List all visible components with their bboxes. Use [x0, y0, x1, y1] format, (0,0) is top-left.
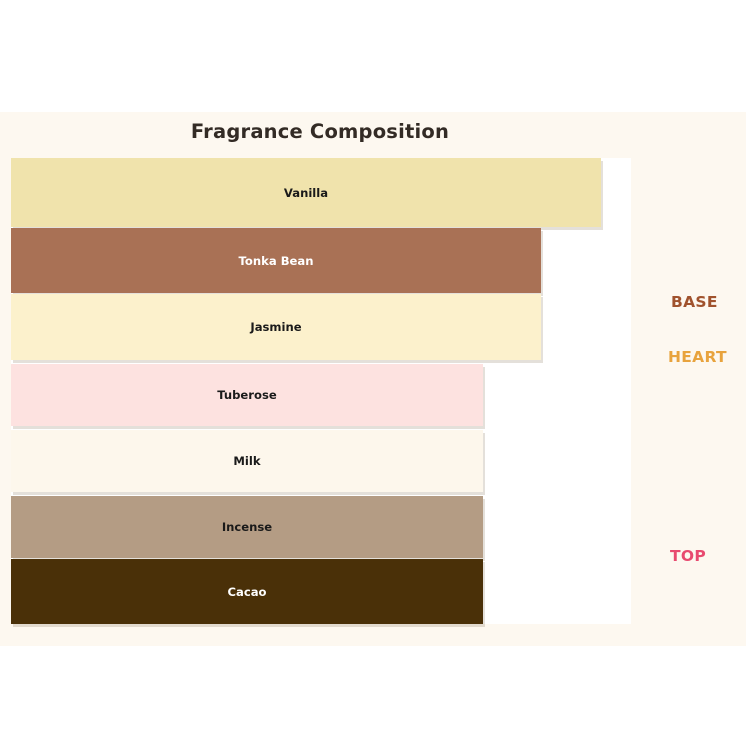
bar-row[interactable]: Incense [11, 496, 483, 558]
bar-fill-incense [11, 496, 483, 558]
bar-fill-vanilla [11, 158, 601, 227]
bar-row[interactable]: Milk [11, 430, 483, 492]
chart-title: Fragrance Composition [0, 120, 640, 143]
bar-row[interactable]: Vanilla [11, 158, 601, 227]
bar-row[interactable]: Tuberose [11, 364, 483, 426]
bar-fill-milk [11, 430, 483, 492]
stage-label-top: TOP [670, 547, 706, 565]
bar-fill-cacao [11, 559, 483, 624]
bar-row[interactable]: Cacao [11, 559, 483, 624]
bar-fill-tuberose [11, 364, 483, 426]
bar-row[interactable]: Jasmine [11, 294, 541, 360]
stage-label-base: BASE [671, 293, 718, 311]
plot-area: Vanilla Tonka Bean Jasmine Tuberose Milk [11, 158, 631, 624]
figure-panel: Fragrance Composition Vanilla Tonka Bean… [0, 112, 746, 646]
bar-fill-tonka-bean [11, 228, 541, 293]
stage-label-heart: HEART [668, 348, 727, 366]
bar-row[interactable]: Tonka Bean [11, 228, 541, 293]
bar-fill-jasmine [11, 294, 541, 360]
